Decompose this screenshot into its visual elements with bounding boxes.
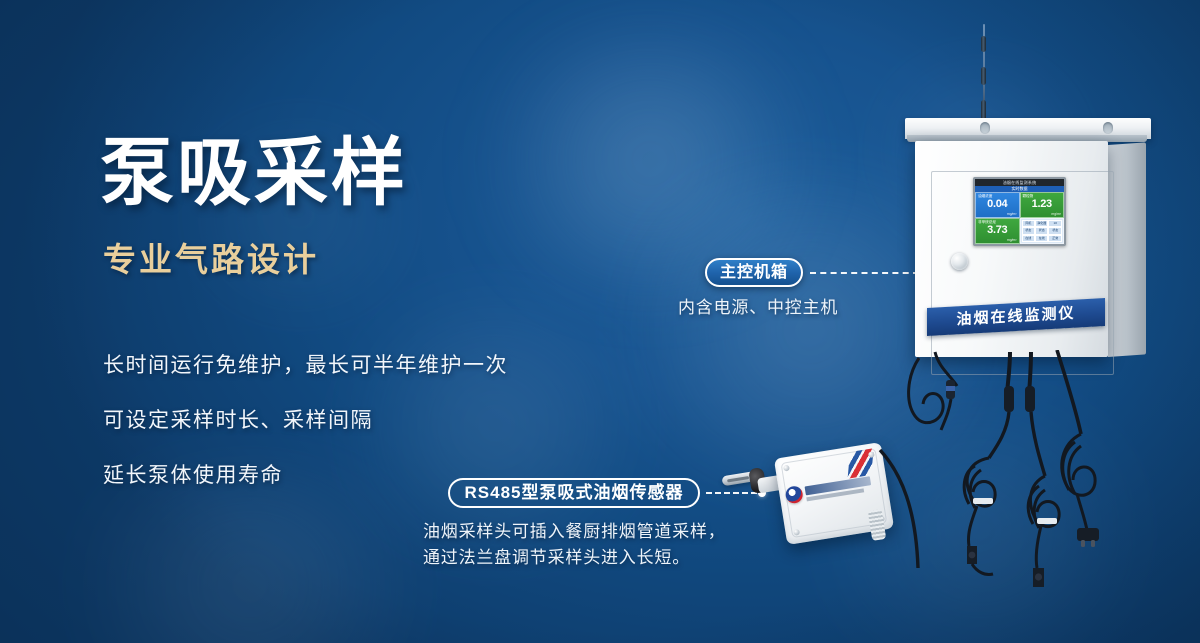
status-cell: 在线 [1022,235,1035,242]
cable-run-2 [1031,412,1045,476]
canopy-mount-hole [1103,122,1113,134]
callout-pill-rs485-sensor: RS485型泵吸式油烟传感器 [448,478,700,508]
lock-knob-icon[interactable] [951,253,968,270]
cable-tail-2 [1036,526,1041,568]
screen-tile-nmhc: 非甲烷总烃 3.73 mg/m³ [975,218,1020,244]
cabinet-front-panel: 油烟在线监测系统 实时数据 油烟浓度 0.04 mg/m³ 颗粒物 1.23 m… [915,141,1108,357]
callout-description-main-cabinet: 内含电源、中控主机 [678,299,838,316]
cable-tail-1 [968,506,977,546]
clamp-lead-1 [972,564,993,575]
screen-status-grid: 风机 净化器 1# 状态 状态 状态 在线 在线 正常 [1020,218,1065,244]
status-cell: 1# [1048,220,1061,227]
rs485-pump-sensor [722,440,937,575]
callout-rs485-sensor: RS485型泵吸式油烟传感器 油烟采样头可插入餐厨排烟管道采样， 通过法兰盘调节… [448,478,700,508]
callout-description-line: 油烟采样头可插入餐厨排烟管道采样， [423,519,726,545]
tile-unit: mg/m³ [1051,212,1061,216]
callout-pill-main-cabinet: 主控机箱 [705,258,803,287]
cable-tie [973,498,993,504]
status-cell: 状态 [1022,227,1035,234]
power-cord-tail [1077,494,1087,530]
screen-tile-particulate: 颗粒物 1.23 mg/m³ [1020,192,1065,218]
cable-tie [1037,518,1057,524]
plug-prong [1091,540,1095,547]
cable-connector [1025,386,1035,412]
plug-prong [1081,540,1085,547]
tile-value: 1.23 [1021,198,1064,211]
feature-item: 可设定采样时长、采样间隔 [103,410,663,431]
cable-bundle [905,350,1200,600]
callout-description-line: 通过法兰盘调节采样头进入长短。 [423,545,726,571]
antenna-segment [981,36,986,52]
status-cell: 状态 [1035,227,1048,234]
antenna-segment [981,67,986,85]
cable-connector [1004,386,1014,412]
tile-unit: mg/m³ [1007,238,1017,242]
screen-tile-grid: 油烟浓度 0.04 mg/m³ 颗粒物 1.23 mg/m³ 非甲烷总烃 3.7… [975,192,1064,244]
probe-intake-slot [727,476,749,482]
cabinet-lcd-screen[interactable]: 油烟在线监测系统 实时数据 油烟浓度 0.04 mg/m³ 颗粒物 1.23 m… [973,177,1066,246]
callout-description-rs485-sensor: 油烟采样头可插入餐厨排烟管道采样， 通过法兰盘调节采样头进入长短。 [423,519,726,571]
cable-connector-ring [946,386,955,391]
sensor-cable-path [880,450,918,568]
tile-unit: mg/m³ [1007,212,1017,216]
callout-main-cabinet: 主控机箱 内含电源、中控主机 [705,258,803,287]
status-cell: 净化器 [1035,220,1048,227]
power-cord [1057,350,1081,434]
tile-value: 0.04 [976,198,1019,211]
product-banner: 泵吸采样 专业气路设计 长时间运行免维护，最长可半年维护一次 可设定采样时长、采… [0,0,1200,643]
cable-loop-left [909,358,944,423]
clamp-aperture [1035,573,1042,580]
page-subtitle: 专业气路设计 [103,243,319,276]
page-title: 泵吸采样 [100,136,408,210]
feature-item: 长时间运行免维护，最长可半年维护一次 [103,355,663,376]
tile-value: 3.73 [976,224,1019,237]
sensor-cable [872,444,934,572]
cable-run-1 [989,412,1009,458]
status-cell: 状态 [1048,227,1061,234]
status-cell: 风机 [1022,220,1035,227]
status-cell: 正常 [1048,235,1061,242]
status-cell: 在线 [1035,235,1048,242]
clamp-aperture [969,552,976,559]
power-plug-icon [1077,528,1099,541]
screen-title: 油烟在线监测系统 [975,179,1064,186]
screen-tile-oil-fume: 油烟浓度 0.04 mg/m³ [975,192,1020,218]
cable-bundle-drawing [905,350,1200,600]
leader-dash [810,272,919,274]
canopy-mount-hole [980,122,990,134]
main-control-cabinet: 油烟在线监测系统 实时数据 油烟浓度 0.04 mg/m³ 颗粒物 1.23 m… [905,118,1151,358]
